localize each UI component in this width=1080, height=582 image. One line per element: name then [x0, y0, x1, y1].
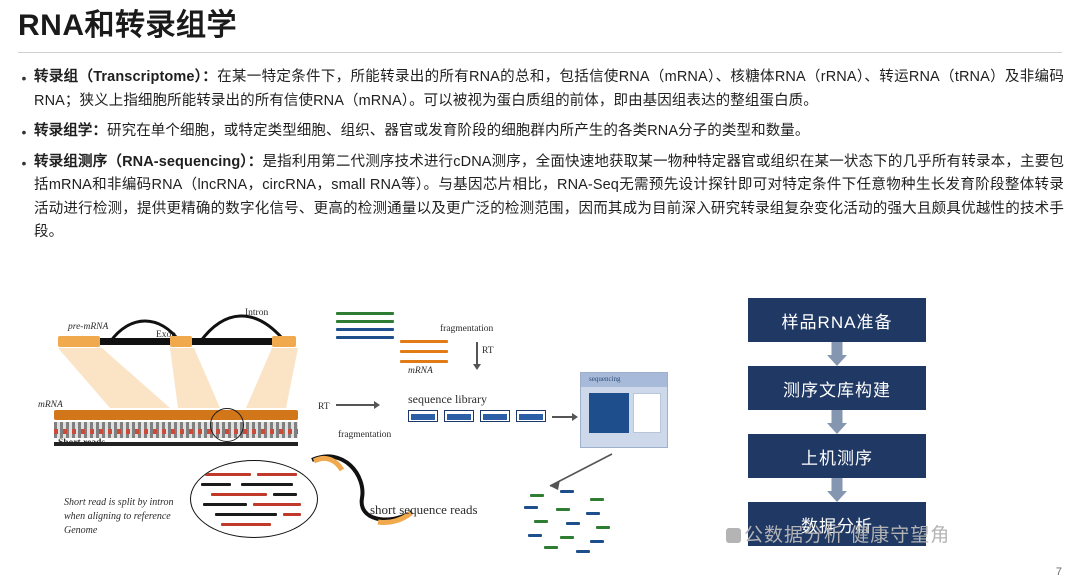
arrow-head-icon: [827, 355, 847, 366]
flow-step-1[interactable]: 样品RNA准备: [748, 298, 926, 342]
mrna-strand: [336, 328, 394, 331]
read-fragment: [534, 520, 548, 523]
aligned-read: [257, 473, 297, 476]
arrow-shaft: [832, 478, 843, 492]
aligned-read: [241, 483, 293, 486]
sequencer-panel: [633, 393, 661, 433]
arrow-shaft: [832, 410, 843, 424]
read-fragment: [560, 536, 574, 539]
read-fragment: [544, 546, 558, 549]
aligned-read: [211, 493, 267, 496]
read-fragment: [528, 534, 542, 537]
library-fragment: [480, 410, 510, 422]
workflow-flowchart: 样品RNA准备 测序文库构建 上机测序 数据分析: [748, 298, 926, 546]
read-fragment: [576, 550, 590, 553]
label-mrna-mid: mRNA: [408, 366, 433, 376]
bullet-term: 转录组学：: [34, 123, 107, 139]
arrow-right-sequencing: [552, 416, 572, 418]
mrna-strand: [400, 360, 448, 363]
read-fragment: [560, 490, 574, 493]
label-rt-top: RT: [482, 346, 494, 356]
aligned-read: [253, 503, 301, 506]
library-fragment: [516, 410, 546, 422]
magnifier-circle: [190, 460, 318, 538]
aligned-read: [283, 513, 301, 516]
read-fragment: [530, 494, 544, 497]
sequencer-illustration: sequencing: [580, 372, 668, 448]
read-fragment: [596, 526, 610, 529]
short-reads-band-colored: [54, 429, 298, 434]
flow-step-2[interactable]: 测序文库构建: [748, 366, 926, 410]
arrow-shaft: [832, 342, 843, 356]
page-title-wrap: RNA和转录组学: [18, 8, 1062, 44]
list-item: • 转录组学：研究在单个细胞，或特定类型细胞、组织、器官或发育阶段的细胞群内所产…: [14, 120, 1064, 144]
aligned-read: [205, 473, 251, 476]
label-short-sequence-reads: short sequence reads: [370, 502, 478, 518]
read-fragment: [524, 506, 538, 509]
aligned-read: [221, 523, 271, 526]
bullet-dot-icon: •: [14, 151, 34, 174]
splicing-fan-svg: [50, 346, 320, 416]
read-fragment: [556, 508, 570, 511]
flow-step-3[interactable]: 上机测序: [748, 434, 926, 478]
rnaseq-illustration: Intron Exon pre-mRNA mRNA Short reads: [40, 300, 720, 562]
flow-arrow-1: [748, 342, 926, 366]
library-fragment: [408, 410, 438, 422]
flow-arrow-2: [748, 410, 926, 434]
magnifier-target-circle: [210, 408, 244, 442]
flow-arrow-3: [748, 478, 926, 502]
list-item: • 转录组测序（RNA-sequencing）：是指利用第二代测序技术进行cDN…: [14, 151, 1064, 245]
watermark: 公数据分析 健康守望角: [726, 520, 950, 547]
read-fragment: [586, 512, 600, 515]
label-sequencing: sequencing: [589, 375, 621, 383]
bullet-term: 转录组（Transcriptome）：: [34, 69, 217, 85]
watermark-text: 公数据分析 健康守望角: [744, 525, 950, 546]
page-title: RNA和转录组学: [18, 8, 1062, 44]
reference-genome-line: [54, 442, 298, 446]
label-sequence-library: sequence library: [408, 392, 487, 407]
split-read-strand-svg: [308, 450, 418, 540]
aligned-read: [215, 513, 277, 516]
aligned-read: [273, 493, 297, 496]
arrow-head-icon: [827, 491, 847, 502]
mrna-strand: [336, 336, 394, 339]
slide: RNA和转录组学 • 转录组（Transcriptome）：在某一特定条件下，所…: [0, 0, 1080, 582]
mrna-strand: [400, 340, 448, 343]
read-fragment: [590, 540, 604, 543]
label-fragmentation-top: fragmentation: [440, 324, 493, 334]
title-divider: [18, 52, 1062, 53]
read-fragment: [590, 498, 604, 501]
mrna-strand: [336, 312, 394, 315]
bullet-text: 转录组测序（RNA-sequencing）：是指利用第二代测序技术进行cDNA测…: [34, 151, 1064, 245]
mrna-strand: [336, 320, 394, 323]
aligned-read: [201, 483, 231, 486]
page-number: 7: [1056, 566, 1062, 578]
library-fragment: [444, 410, 474, 422]
arrow-down-rt: [476, 342, 478, 364]
label-fragmentation-bottom: fragmentation: [338, 430, 391, 440]
bullet-text: 转录组（Transcriptome）：在某一特定条件下，所能转录出的所有RNA的…: [34, 66, 1064, 113]
arrow-right-rt: [336, 404, 374, 406]
bullet-body: 研究在单个细胞，或特定类型细胞、组织、器官或发育阶段的细胞群内所产生的各类RNA…: [107, 123, 810, 139]
bullet-dot-icon: •: [14, 66, 34, 89]
aligned-read: [203, 503, 247, 506]
bullet-text: 转录组学：研究在单个细胞，或特定类型细胞、组织、器官或发育阶段的细胞群内所产生的…: [34, 120, 1064, 144]
list-item: • 转录组（Transcriptome）：在某一特定条件下，所能转录出的所有RN…: [14, 66, 1064, 113]
watermark-badge-icon: [726, 528, 741, 543]
read-fragment: [566, 522, 580, 525]
sequencer-screen: [589, 393, 629, 433]
figure-caption: Short read is split by intron when align…: [64, 496, 194, 538]
arrow-head-icon: [827, 423, 847, 434]
bullet-list: • 转录组（Transcriptome）：在某一特定条件下，所能转录出的所有RN…: [14, 66, 1064, 252]
short-reads-cloud: [520, 490, 640, 554]
bullet-dot-icon: •: [14, 120, 34, 143]
bullet-term: 转录组测序（RNA-sequencing）：: [34, 154, 262, 170]
mrna-strand: [400, 350, 448, 353]
label-rt-left: RT: [318, 402, 330, 412]
mrna-bar: [54, 410, 298, 420]
